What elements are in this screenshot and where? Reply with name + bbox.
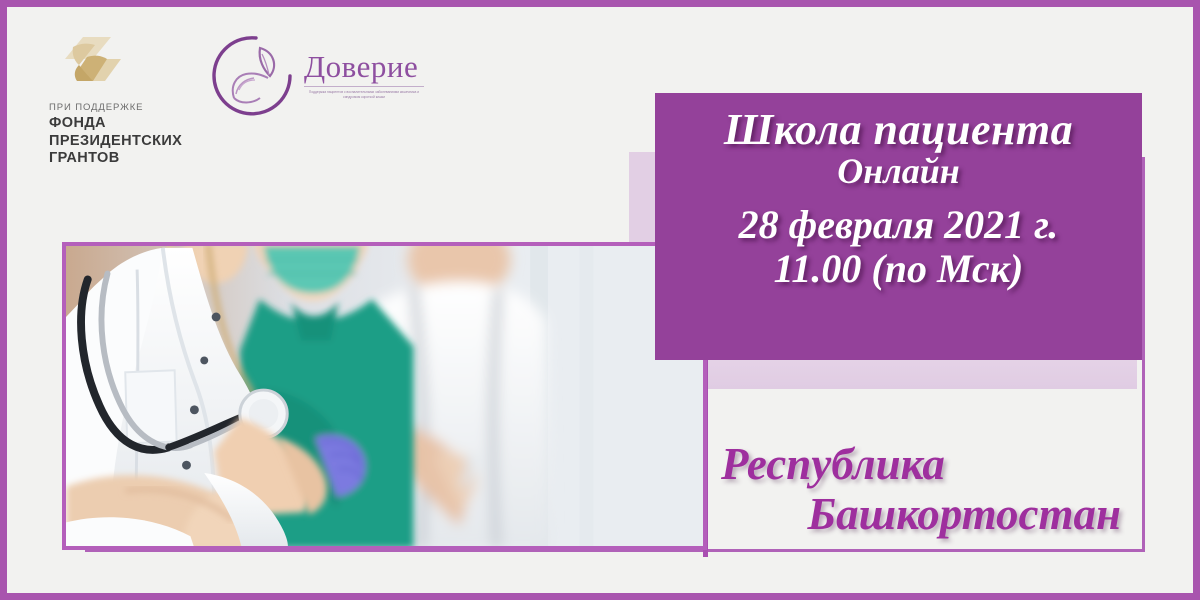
presidential-grants-fund-emblem: [49, 35, 199, 97]
logo-presidential-grants-fund: ПРИ ПОДДЕРЖКЕ ФОНДА ПРЕЗИДЕНТСКИХ ГРАНТО…: [49, 35, 199, 168]
region-line-2: Башкортостан: [707, 489, 1127, 539]
event-date: 28 февраля 2021 г.: [655, 190, 1142, 246]
region-caption: Республика Башкортостан: [707, 439, 1127, 540]
pgf-name-line-3: ГРАНТОВ: [49, 150, 199, 168]
hand-with-leaf-circle-icon: [212, 32, 300, 120]
event-title-box: Школа пациента Онлайн 28 февраля 2021 г.…: [655, 93, 1142, 360]
pgf-support-line: ПРИ ПОДДЕРЖКЕ: [49, 102, 199, 113]
decorative-lavender-band-horizontal: [707, 355, 1137, 389]
pgf-name-line-1: ФОНДА: [49, 115, 199, 133]
pgf-name-line-2: ПРЕЗИДЕНТСКИХ: [49, 133, 199, 151]
poster-canvas: ПРИ ПОДДЕРЖКЕ ФОНДА ПРЕЗИДЕНТСКИХ ГРАНТО…: [0, 0, 1200, 600]
doverie-wordmark: Доверие: [304, 51, 424, 82]
doverie-tagline: Поддержка пациентов с воспалительными за…: [304, 86, 424, 100]
logo-doverie: Доверие Поддержка пациентов с воспалител…: [212, 32, 424, 120]
region-line-1: Республика: [707, 439, 1127, 489]
event-time: 11.00 (по Мск): [655, 246, 1142, 290]
event-title-line-2: Онлайн: [655, 153, 1142, 190]
medical-team-photo: [62, 242, 707, 550]
event-title-line-1: Школа пациента: [655, 93, 1142, 153]
